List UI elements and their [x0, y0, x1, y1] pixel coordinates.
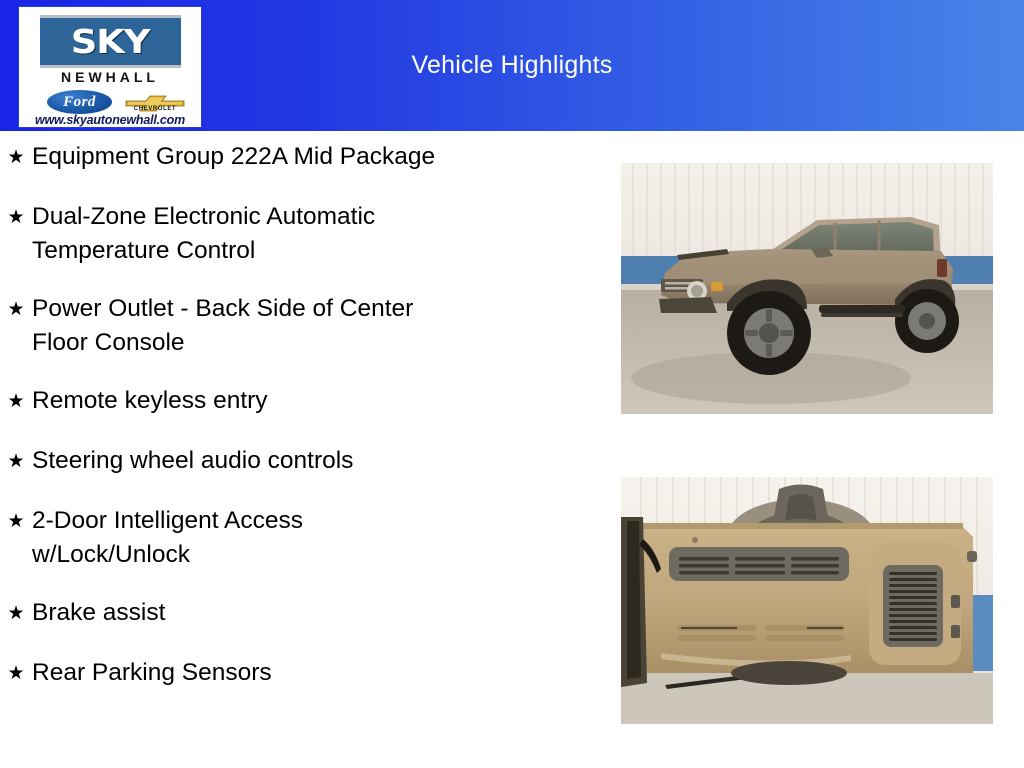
vehicle-photo-tailgate[interactable]	[621, 477, 993, 724]
list-item-label: Equipment Group 222A Mid Package	[32, 140, 435, 174]
list-item: ★ 2-Door Intelligent Access w/Lock/Unloc…	[0, 504, 600, 572]
list-item-label: Brake assist	[32, 596, 165, 630]
newhall-wordmark: NEWHALL	[19, 69, 201, 85]
star-bullet-icon: ★	[0, 384, 32, 420]
list-item: ★ Equipment Group 222A Mid Package	[0, 140, 600, 176]
list-item-label: Steering wheel audio controls	[32, 444, 353, 478]
list-item-label: Rear Parking Sensors	[32, 656, 272, 690]
dealer-logo[interactable]: SKY NEWHALL Ford CHEVROLET www.skyautone…	[18, 6, 202, 128]
star-bullet-icon: ★	[0, 444, 32, 480]
list-item: ★ Dual-Zone Electronic Automatic Tempera…	[0, 200, 600, 268]
sky-wordmark: SKY	[71, 25, 150, 58]
star-bullet-icon: ★	[0, 140, 32, 176]
star-bullet-icon: ★	[0, 596, 32, 632]
star-bullet-icon: ★	[0, 656, 32, 692]
list-item: ★ Steering wheel audio controls	[0, 444, 600, 480]
list-item: ★ Remote keyless entry	[0, 384, 600, 420]
list-item-label: Power Outlet - Back Side of Center Floor…	[32, 292, 413, 360]
list-item: ★ Power Outlet - Back Side of Center Flo…	[0, 292, 600, 360]
tailgate-photo-image	[621, 477, 993, 724]
chevrolet-wordmark: CHEVROLET	[124, 106, 186, 112]
list-item-label: 2-Door Intelligent Access w/Lock/Unlock	[32, 504, 303, 572]
vehicle-photo-exterior[interactable]	[621, 163, 993, 414]
list-item-label: Dual-Zone Electronic Automatic Temperatu…	[32, 200, 375, 268]
ford-oval-icon: Ford	[46, 89, 113, 115]
list-item: ★ Brake assist	[0, 596, 600, 632]
star-bullet-icon: ★	[0, 200, 32, 236]
star-bullet-icon: ★	[0, 292, 32, 328]
list-item: ★ Rear Parking Sensors	[0, 656, 600, 692]
star-bullet-icon: ★	[0, 504, 32, 540]
vehicle-highlights-list: ★ Equipment Group 222A Mid Package ★ Dua…	[0, 140, 600, 716]
ford-label: Ford	[63, 94, 96, 111]
dealer-website-url[interactable]: www.skyautonewhall.com	[19, 113, 201, 127]
list-item-label: Remote keyless entry	[32, 384, 268, 418]
sky-banner: SKY	[40, 15, 181, 68]
exterior-photo-image	[621, 163, 993, 414]
